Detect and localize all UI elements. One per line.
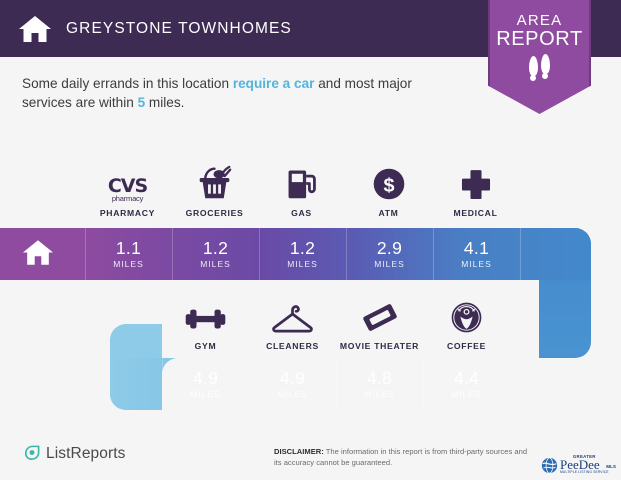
svg-text:$: $ (383, 175, 394, 197)
grocery-basket-icon (172, 160, 257, 202)
distance-unit: MILES (113, 259, 144, 269)
gas-pump-icon (259, 160, 344, 202)
mls-abbr: MLS (606, 464, 616, 469)
badge-line-1: AREA (490, 12, 589, 29)
intro-part-3: miles. (145, 95, 184, 110)
amenity-atm: $ ATM (346, 160, 431, 218)
amenity-label: GYM (162, 341, 249, 351)
medical-cross-icon (433, 160, 518, 202)
distance-number: 1.2 (203, 239, 228, 258)
mls-wordmark: GREATER PeeDee MULTIPLE LISTING SERVICE (560, 455, 609, 475)
amenity-icon-row-2: GYM CLEANERS MOVIE THEATER (0, 293, 621, 355)
amenity-label: CLEANERS (249, 341, 336, 351)
mls-subtitle: MULTIPLE LISTING SERVICE (560, 471, 609, 474)
cvs-logo-line-2: pharmacy (108, 195, 147, 203)
badge-line-2: REPORT (490, 29, 589, 50)
amenity-gas: GAS (259, 160, 344, 218)
amenity-label: COFFEE (423, 341, 510, 351)
starbucks-coffee-logo (423, 293, 510, 335)
distance-number: 1.2 (290, 239, 315, 258)
disclaimer: DISCLAIMER: The information in this repo… (274, 447, 536, 468)
page-title: GREYSTONE TOWNHOMES (66, 20, 292, 38)
distance-value-gym: 4.9 MILES (162, 358, 249, 410)
amenity-gym: GYM (162, 293, 249, 351)
intro-highlight-car: require a car (233, 76, 315, 91)
disclaimer-label: DISCLAIMER: (274, 447, 324, 456)
distance-number: 4.9 (280, 369, 305, 388)
distance-unit: MILES (277, 389, 308, 399)
amenity-label: MOVIE THEATER (336, 341, 423, 351)
distance-value-groceries: 1.2 MILES (172, 228, 259, 280)
amenity-pharmacy: CVS pharmacy PHARMACY (85, 160, 170, 218)
distance-unit: MILES (200, 259, 231, 269)
segment-divider (510, 358, 511, 410)
distance-number: 4.9 (193, 369, 218, 388)
area-report-badge: AREA REPORT (488, 0, 591, 114)
home-icon (22, 238, 54, 272)
amenity-movie-theater: MOVIE THEATER (336, 293, 423, 351)
amenity-icon-row-1: CVS pharmacy PHARMACY (0, 160, 621, 222)
movie-ticket-icon (336, 293, 423, 335)
dumbbell-icon (162, 293, 249, 335)
distance-number: 1.1 (116, 239, 141, 258)
distance-value-cleaners: 4.9 MILES (249, 358, 336, 410)
distance-value-movie-theater: 4.8 MILES (336, 358, 423, 410)
distance-unit: MILES (451, 389, 482, 399)
distance-unit: MILES (364, 389, 395, 399)
mls-globe-icon (541, 457, 558, 474)
home-icon (18, 14, 52, 44)
amenity-label: GROCERIES (172, 208, 257, 218)
distance-value-atm: 2.9 MILES (346, 228, 433, 280)
amenity-label: MEDICAL (433, 208, 518, 218)
distance-unit: MILES (190, 389, 221, 399)
intro-text: Some daily errands in this location requ… (22, 74, 442, 112)
clothes-hanger-icon (249, 293, 336, 335)
amenity-label: ATM (346, 208, 431, 218)
amenity-label: PHARMACY (85, 208, 170, 218)
mls-logo: GREATER PeeDee MULTIPLE LISTING SERVICE … (541, 452, 617, 478)
listreports-leaf-icon (22, 444, 41, 463)
cvs-pharmacy-logo: CVS pharmacy (85, 160, 170, 202)
amenity-medical: MEDICAL (433, 160, 518, 218)
distance-unit: MILES (287, 259, 318, 269)
distance-value-coffee: 4.4 MILES (423, 358, 510, 410)
segment-divider (520, 228, 521, 280)
distance-number: 2.9 (377, 239, 402, 258)
area-report-infographic: GREYSTONE TOWNHOMES AREA REPORT Some dai… (0, 0, 621, 480)
distance-unit: MILES (461, 259, 492, 269)
amenity-label: GAS (259, 208, 344, 218)
distance-value-gas: 1.2 MILES (259, 228, 346, 280)
intro-part-1: Some daily errands in this location (22, 76, 233, 91)
distance-number: 4.8 (367, 369, 392, 388)
listreports-wordmark: ListReports (46, 445, 126, 463)
footprints-icon (490, 56, 589, 76)
atm-dollar-icon: $ (346, 160, 431, 202)
amenity-groceries: GROCERIES (172, 160, 257, 218)
distance-value-medical: 4.1 MILES (433, 228, 520, 280)
listreports-brand: ListReports (22, 444, 126, 463)
distance-unit: MILES (374, 259, 405, 269)
distance-number: 4.4 (454, 369, 479, 388)
distance-number: 4.1 (464, 239, 489, 258)
amenity-cleaners: CLEANERS (249, 293, 336, 351)
distance-value-pharmacy: 1.1 MILES (85, 228, 172, 280)
amenity-coffee: COFFEE (423, 293, 510, 351)
